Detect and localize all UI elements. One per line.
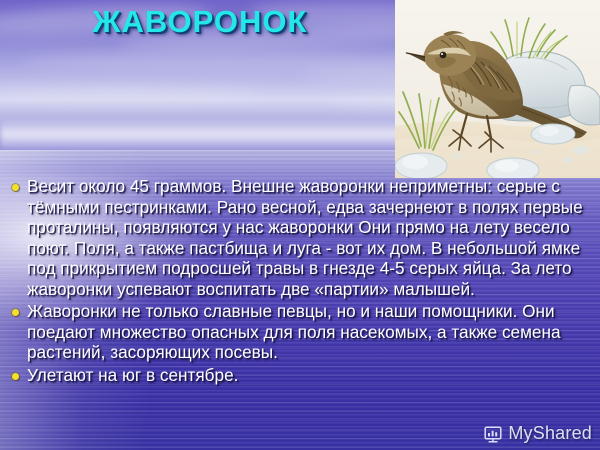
bullet-text: Весит около 45 граммов. Внешне жаворонки… bbox=[27, 176, 600, 299]
myshared-watermark[interactable]: MyShared bbox=[483, 423, 592, 444]
cloud-shape bbox=[0, 86, 260, 100]
bullet-point-icon bbox=[12, 309, 19, 316]
bird-illustration-svg bbox=[395, 0, 600, 178]
bullet-point-icon bbox=[12, 184, 19, 191]
list-item: Улетают на юг в сентябре. bbox=[6, 365, 600, 386]
bullet-text: Жаворонки не только славные певцы, но и … bbox=[27, 301, 600, 363]
watermark-label: MyShared bbox=[508, 423, 592, 444]
presentation-slide: ЖАВОРОНОК bbox=[0, 0, 600, 450]
page-title: ЖАВОРОНОК bbox=[0, 0, 400, 44]
slide-body: Весит около 45 граммов. Внешне жаворонки… bbox=[6, 176, 600, 387]
bullet-text: Улетают на юг в сентябре. bbox=[27, 365, 600, 386]
list-item: Жаворонки не только славные певцы, но и … bbox=[6, 301, 600, 363]
lark-bird-illustration bbox=[395, 0, 600, 178]
list-item: Весит около 45 граммов. Внешне жаворонки… bbox=[6, 176, 600, 299]
bullet-point-icon bbox=[12, 373, 19, 380]
presentation-chart-icon bbox=[483, 424, 503, 444]
